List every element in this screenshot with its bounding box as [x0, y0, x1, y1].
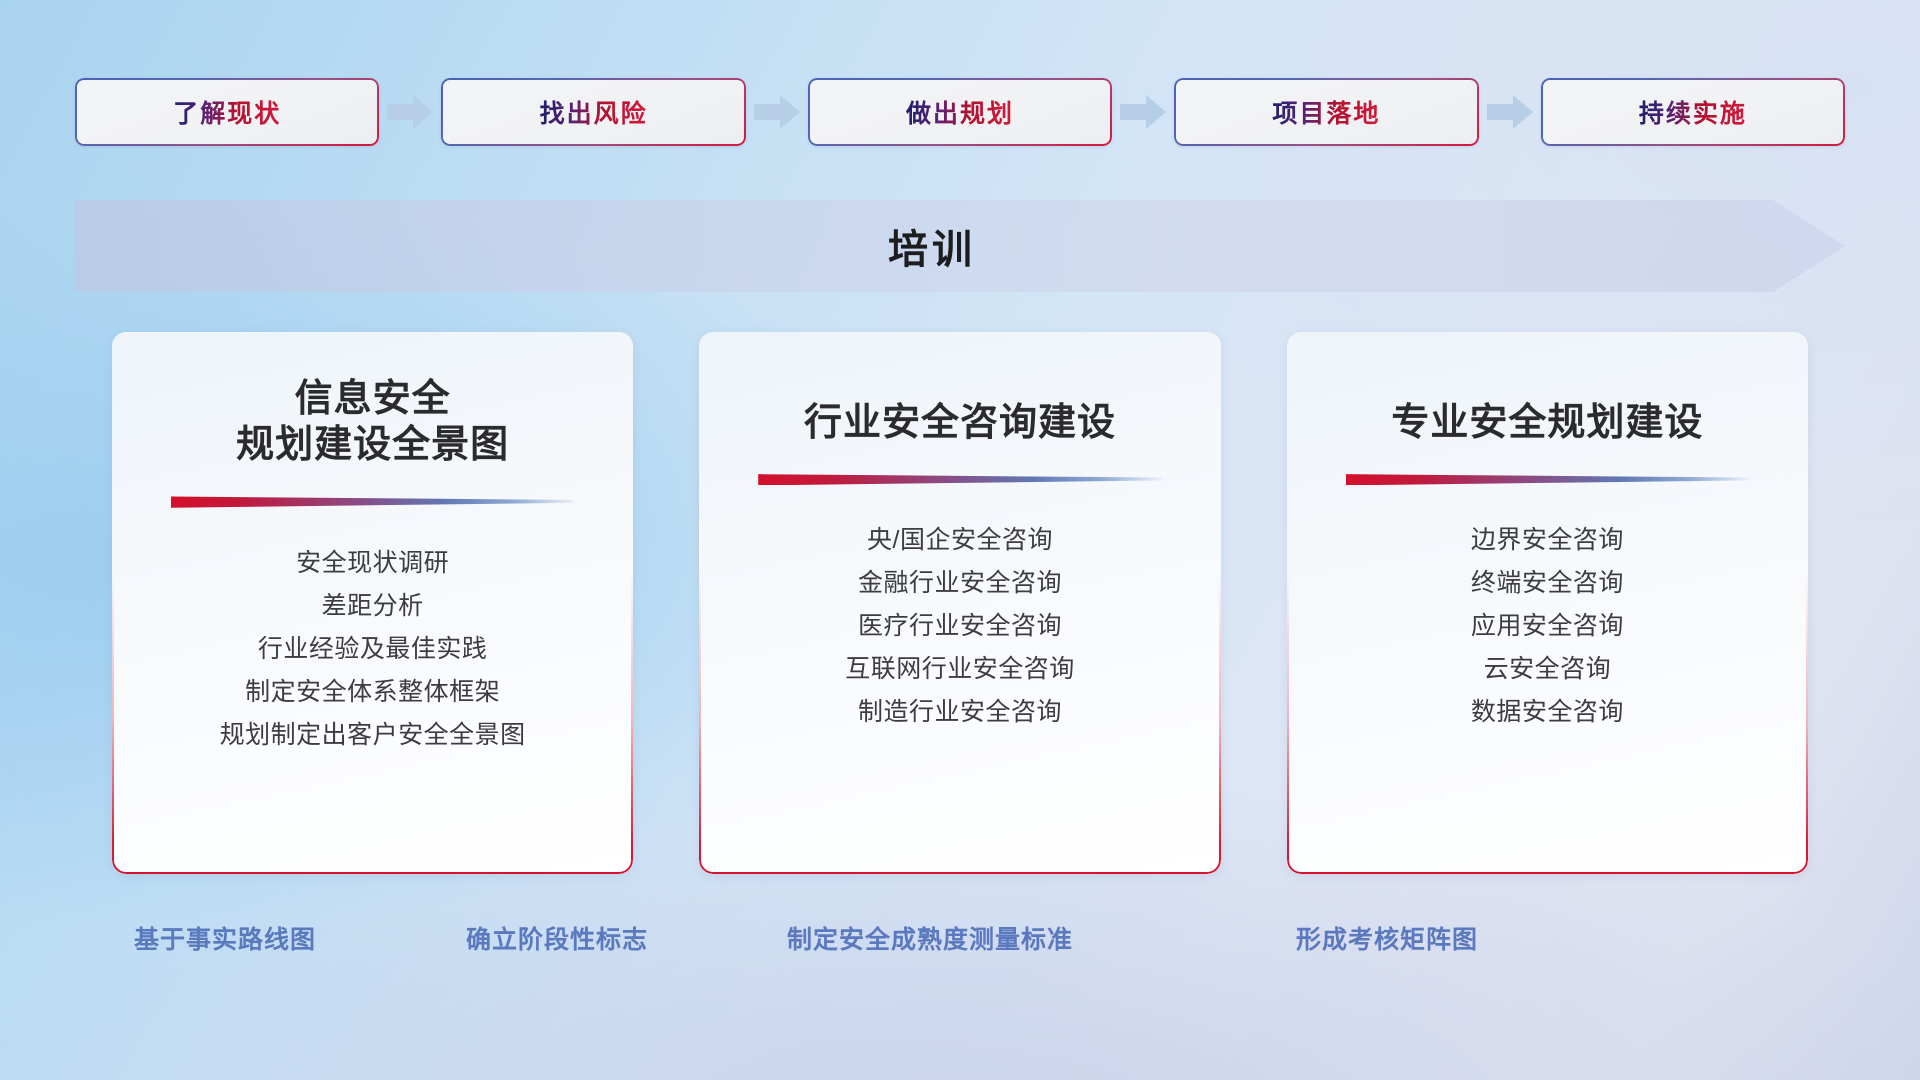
list-item: 医疗行业安全咨询	[725, 605, 1194, 648]
card-title: 信息安全 规划建设全景图	[236, 376, 509, 469]
list-item: 制定安全体系整体框架	[138, 671, 607, 714]
list-item: 互联网行业安全咨询	[725, 648, 1194, 691]
card-title: 专业安全规划建设	[1391, 400, 1703, 446]
card-item-list: 央/国企安全咨询 金融行业安全咨询 医疗行业安全咨询 互联网行业安全咨询 制造行…	[725, 519, 1194, 734]
card-group: 信息安全 规划建设全景图 安全现状调研 差距分析 行业经验及最佳实践 制定安全体…	[112, 332, 1808, 874]
list-item: 终端安全咨询	[1313, 562, 1782, 605]
arrow-right-icon	[746, 92, 808, 132]
stage-label: 项目落地	[1272, 94, 1380, 130]
stage-pill-2[interactable]: 做出规划	[808, 78, 1112, 146]
stage-pill-0[interactable]: 了解现状	[75, 78, 379, 146]
list-item: 差距分析	[138, 585, 607, 628]
stage-pill-3[interactable]: 项目落地	[1174, 78, 1478, 146]
footnote-label: 基于事实路线图	[134, 920, 316, 956]
arrow-right-icon	[1479, 92, 1541, 132]
stage-label: 做出规划	[906, 94, 1014, 130]
card-divider	[171, 495, 575, 508]
footnote-label: 制定安全成熟度测量标准	[787, 920, 1073, 956]
stage-pill-4[interactable]: 持续实施	[1541, 78, 1845, 146]
process-stage-row: 了解现状 找出风险 做出规划 项目落地 持续实施	[75, 78, 1845, 146]
list-item: 云安全咨询	[1313, 648, 1782, 691]
arrow-right-icon	[379, 92, 441, 132]
footnote-label: 形成考核矩阵图	[1296, 920, 1478, 956]
card-divider	[758, 472, 1162, 485]
card-divider	[1346, 472, 1750, 485]
list-item: 安全现状调研	[138, 542, 607, 585]
card-information-security-panorama[interactable]: 信息安全 规划建设全景图 安全现状调研 差距分析 行业经验及最佳实践 制定安全体…	[112, 332, 633, 874]
list-item: 金融行业安全咨询	[725, 562, 1194, 605]
card-item-list: 安全现状调研 差距分析 行业经验及最佳实践 制定安全体系整体框架 规划制定出客户…	[138, 542, 607, 757]
list-item: 应用安全咨询	[1313, 605, 1782, 648]
footnote-row: 基于事实路线图 确立阶段性标志 制定安全成熟度测量标准 形成考核矩阵图	[0, 920, 1920, 970]
list-item: 行业经验及最佳实践	[138, 628, 607, 671]
banner-title: 培训	[75, 200, 1845, 292]
arrow-right-icon	[1112, 92, 1174, 132]
card-industry-security-consulting[interactable]: 行业安全咨询建设 央/国企安全咨询 金融行业安全咨询 医疗行业安全咨询 互联网行…	[699, 332, 1220, 874]
stage-label: 持续实施	[1639, 94, 1747, 130]
stage-pill-1[interactable]: 找出风险	[441, 78, 745, 146]
list-item: 制造行业安全咨询	[725, 691, 1194, 734]
list-item: 规划制定出客户安全全景图	[138, 714, 607, 757]
list-item: 数据安全咨询	[1313, 691, 1782, 734]
list-item: 边界安全咨询	[1313, 519, 1782, 562]
footnote-label: 确立阶段性标志	[466, 920, 648, 956]
list-item: 央/国企安全咨询	[725, 519, 1194, 562]
stage-label: 找出风险	[540, 94, 648, 130]
training-banner: 培训	[75, 200, 1845, 292]
card-item-list: 边界安全咨询 终端安全咨询 应用安全咨询 云安全咨询 数据安全咨询	[1313, 519, 1782, 734]
card-title: 行业安全咨询建设	[804, 400, 1116, 446]
stage-label: 了解现状	[173, 94, 281, 130]
card-professional-security-planning[interactable]: 专业安全规划建设 边界安全咨询 终端安全咨询 应用安全咨询 云安全咨询 数据安全…	[1287, 332, 1808, 874]
